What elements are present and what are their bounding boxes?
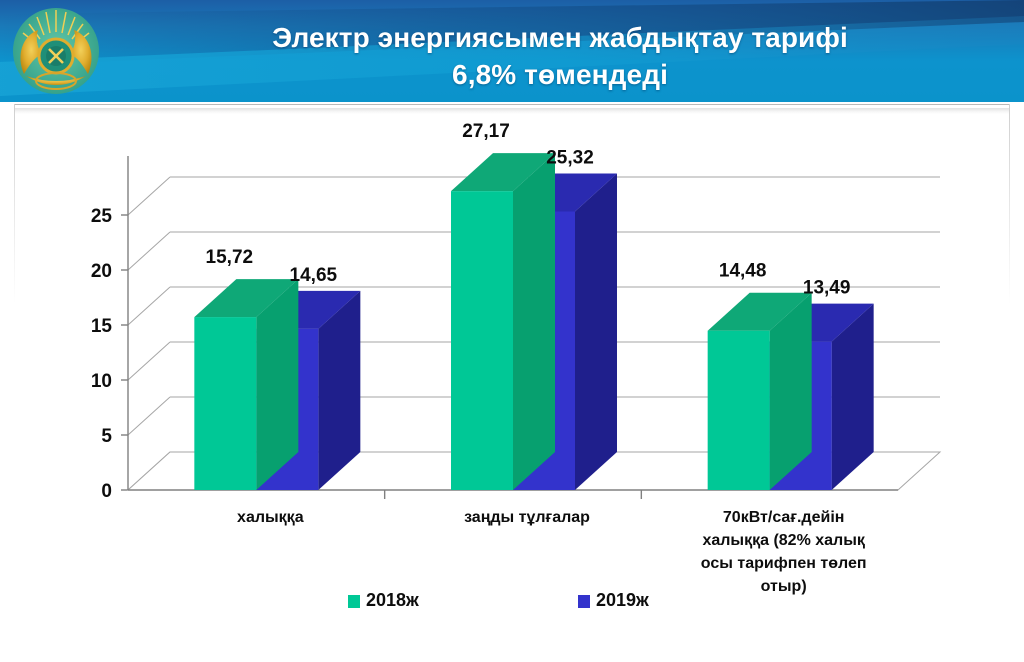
slide-header-banner: Электр энергиясымен жабдықтау тарифі 6,8… (0, 0, 1024, 102)
page-title: Электр энергиясымен жабдықтау тарифі 6,8… (150, 20, 970, 94)
bar-side-face (513, 153, 555, 490)
content-left-edge (14, 104, 15, 304)
page-title-line-2: 6,8% төмендеді (150, 57, 970, 94)
page-title-line-1: Электр энергиясымен жабдықтау тарифі (272, 22, 848, 53)
legend-label: 2019ж (596, 590, 649, 610)
bars-group (194, 153, 873, 490)
bar-value-label: 25,32 (546, 147, 594, 168)
grid-depth-line (128, 342, 170, 380)
grid-depth-line (128, 397, 170, 435)
y-axis-tick-label: 5 (101, 426, 112, 447)
y-axis-tick-label: 15 (91, 316, 113, 337)
bar-value-label: 14,65 (290, 265, 338, 286)
y-axis-labels: 0510152025 (91, 206, 113, 502)
y-axis-tick-label: 10 (91, 371, 112, 392)
content-top-shadow (14, 108, 1010, 114)
bar-chart: 051015202513,4914,4825,3227,1714,6515,72… (0, 112, 1024, 662)
category-label: заңды тұлғалар (464, 509, 590, 526)
legend-swatch (578, 595, 590, 608)
bar-series-1 (708, 293, 812, 490)
grid-depth-line (128, 177, 170, 215)
kazakhstan-emblem-icon (8, 2, 104, 100)
bar-front-face (708, 331, 770, 490)
category-label: халыққа (237, 509, 304, 526)
chart-canvas: 051015202513,4914,4825,3227,1714,6515,72… (0, 112, 1024, 662)
content-top-divider (14, 104, 1010, 105)
legend-swatch (348, 595, 360, 608)
grid-depth-line (128, 232, 170, 270)
bar-value-label: 13,49 (803, 278, 851, 299)
bar-value-label: 27,17 (462, 121, 510, 142)
legend-label: 2018ж (366, 590, 419, 610)
chart-legend: 2018ж2019ж (348, 590, 649, 610)
bar-series-1 (194, 279, 298, 490)
bar-front-face (451, 191, 513, 490)
bar-value-label: 14,48 (719, 261, 767, 282)
bar-front-face (194, 317, 256, 490)
grid-depth-line (128, 287, 170, 325)
category-label: 70кВт/сағ.дейін (723, 509, 845, 526)
category-labels-group: халыққазаңды тұлғалар70кВт/сағ.дейінхалы… (237, 509, 866, 595)
category-label: отыр) (761, 578, 807, 595)
bar-value-label: 15,72 (206, 247, 254, 268)
bar-series-1 (451, 153, 555, 490)
category-label: халыққа (82% халық (702, 532, 865, 549)
y-axis-tick-label: 20 (91, 261, 112, 282)
content-right-edge (1009, 104, 1010, 304)
presentation-slide: Электр энергиясымен жабдықтау тарифі 6,8… (0, 0, 1024, 662)
category-label: осы тарифпен төлеп (701, 555, 867, 572)
y-axis-tick-label: 25 (91, 206, 113, 227)
y-axis-tick-label: 0 (101, 481, 112, 502)
bar-side-face (575, 173, 617, 490)
